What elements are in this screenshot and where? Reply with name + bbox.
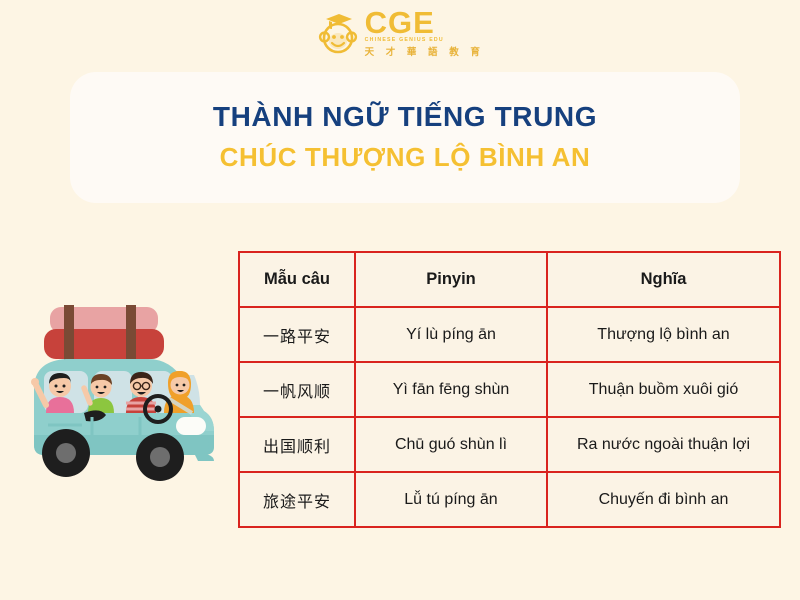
- page-subtitle: CHÚC THƯỢNG LỘ BÌNH AN: [70, 142, 740, 173]
- cell-hanzi: 旅途平安: [239, 472, 355, 527]
- logo-tagline: CHINESE GENIUS EDU: [365, 38, 444, 43]
- table-row: 一帆风顺 Yì fān fēng shùn Thuận buồm xuôi gi…: [239, 362, 780, 417]
- monkey-graduate-icon: [316, 10, 360, 56]
- table-row: 出国顺利 Chū guó shùn lì Ra nước ngoài thuận…: [239, 417, 780, 472]
- cell-pinyin: Yí lù píng ān: [355, 307, 547, 362]
- family-car-travel-illustration: [8, 285, 233, 500]
- cell-meaning: Thuận buồm xuôi gió: [547, 362, 780, 417]
- cell-hanzi: 一帆风顺: [239, 362, 355, 417]
- table-row: 旅途平安 Lǚ tú píng ān Chuyến đi bình an: [239, 472, 780, 527]
- cell-hanzi: 一路平安: [239, 307, 355, 362]
- table-row: 一路平安 Yí lù píng ān Thượng lộ bình an: [239, 307, 780, 362]
- logo-brand-text: CGE: [365, 8, 435, 37]
- cell-pinyin: Yì fān fēng shùn: [355, 362, 547, 417]
- cell-hanzi: 出国顺利: [239, 417, 355, 472]
- brand-logo: CGE CHINESE GENIUS EDU 天 才 華 語 教 育: [0, 8, 800, 57]
- cell-pinyin: Lǚ tú píng ān: [355, 472, 547, 527]
- title-panel: THÀNH NGỮ TIẾNG TRUNG CHÚC THƯỢNG LỘ BÌN…: [70, 72, 740, 203]
- front-bumper: [194, 453, 214, 461]
- headlight-icon: [176, 417, 206, 435]
- page-title: THÀNH NGỮ TIẾNG TRUNG: [70, 101, 740, 133]
- column-header-pinyin: Pinyin: [355, 252, 547, 307]
- cell-meaning: Thượng lộ bình an: [547, 307, 780, 362]
- cell-meaning: Chuyến đi bình an: [547, 472, 780, 527]
- wheel-rear: [42, 429, 90, 477]
- phrases-table: Mẫu câu Pinyin Nghĩa 一路平安 Yí lù píng ān …: [238, 251, 781, 528]
- cell-pinyin: Chū guó shùn lì: [355, 417, 547, 472]
- logo-chinese-name: 天 才 華 語 教 育: [365, 48, 485, 58]
- table-header-row: Mẫu câu Pinyin Nghĩa: [239, 252, 780, 307]
- column-header-meaning: Nghĩa: [547, 252, 780, 307]
- roof-luggage-icon: [44, 305, 164, 361]
- column-header-hanzi: Mẫu câu: [239, 252, 355, 307]
- cell-meaning: Ra nước ngoài thuận lợi: [547, 417, 780, 472]
- wheel-front: [136, 433, 184, 481]
